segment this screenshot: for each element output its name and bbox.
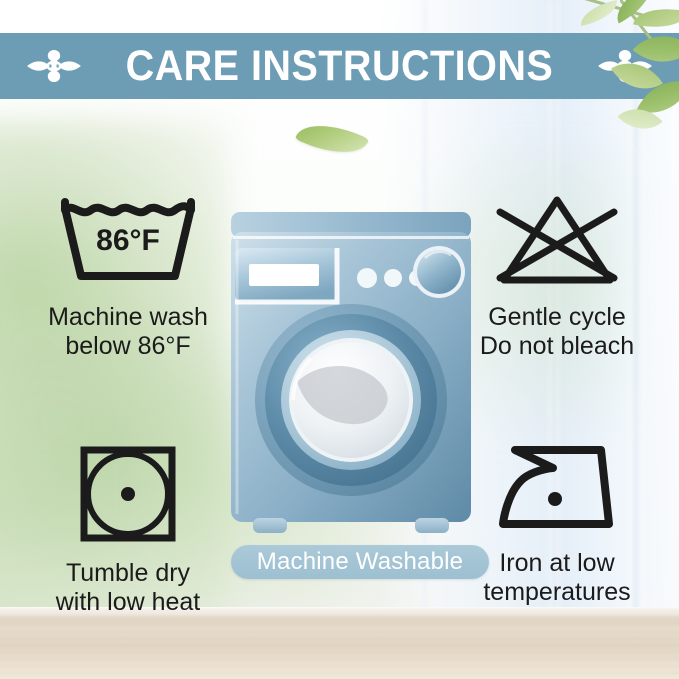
care-symbol-machine-wash: 86°F Machine wash below 86°F <box>18 192 238 360</box>
care-symbol-tumble-dry: Tumble dry with low heat <box>18 444 238 616</box>
vine-top-right <box>549 0 679 150</box>
fleur-de-lis-icon <box>23 42 85 90</box>
triangle-crossed-bleach-icon <box>494 192 620 293</box>
badge-label: Machine Washable <box>257 550 463 574</box>
care-symbol-label: Gentle cycle Do not bleach <box>480 303 634 360</box>
care-symbol-iron: Iron at low temperatures <box>444 444 670 606</box>
machine-foot <box>415 518 449 533</box>
machine-foot <box>253 518 287 533</box>
care-instructions-graphic: CARE INSTRUCTIONS 86°F <box>0 0 679 679</box>
care-symbol-label: Tumble dry with low heat <box>56 559 201 616</box>
wooden-surface-grain <box>0 607 679 679</box>
wash-tub-icon: 86°F <box>53 192 203 293</box>
machine-washable-badge: Machine Washable <box>231 545 489 579</box>
tumble-dry-square-icon <box>78 444 178 549</box>
dial-knob <box>413 246 465 298</box>
care-symbol-label: Machine wash below 86°F <box>48 303 208 360</box>
wash-temperature-value: 86°F <box>96 224 160 257</box>
care-symbol-do-not-bleach: Gentle cycle Do not bleach <box>444 192 670 360</box>
control-button <box>357 268 377 288</box>
detergent-drawer <box>235 248 337 302</box>
page-title: CARE INSTRUCTIONS <box>126 45 554 88</box>
washer-door <box>255 304 447 496</box>
washing-machine-illustration <box>227 210 475 540</box>
control-button <box>384 269 402 287</box>
care-symbol-label: Iron at low temperatures <box>483 549 630 606</box>
iron-icon <box>493 444 621 539</box>
